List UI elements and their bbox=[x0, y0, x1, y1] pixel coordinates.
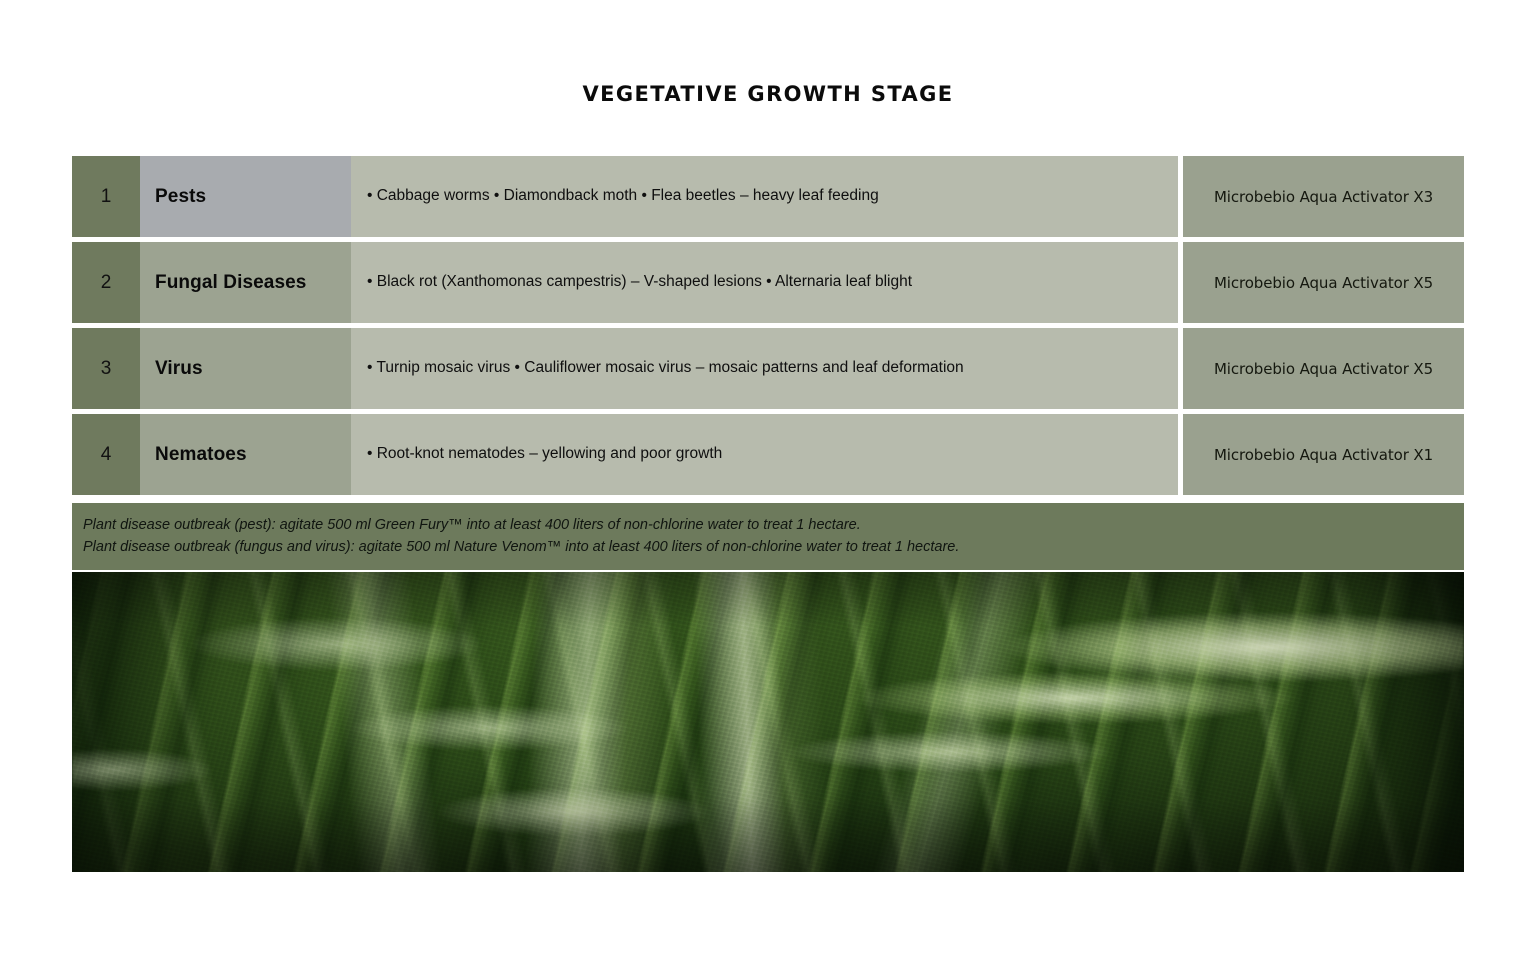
row-product: Microbebio Aqua Activator X5 bbox=[1183, 328, 1464, 409]
pest-management-table: 1 Pests • Cabbage worms • Diamondback mo… bbox=[72, 156, 1464, 495]
row-product: Microbebio Aqua Activator X3 bbox=[1183, 156, 1464, 237]
page-root: VEGETATIVE GROWTH STAGE 1 Pests • Cabbag… bbox=[0, 0, 1536, 977]
row-category: Pests bbox=[140, 156, 351, 237]
row-category: Fungal Diseases bbox=[140, 242, 351, 323]
cabbage-leaves-photo bbox=[72, 572, 1464, 872]
row-number: 4 bbox=[72, 414, 140, 495]
row-description: • Cabbage worms • Diamondback moth • Fle… bbox=[351, 156, 1178, 237]
row-description: • Root-knot nematodes – yellowing and po… bbox=[351, 414, 1178, 495]
page-title: VEGETATIVE GROWTH STAGE bbox=[0, 82, 1536, 106]
table-row: 4 Nematoes • Root-knot nematodes – yello… bbox=[72, 414, 1464, 495]
row-product: Microbebio Aqua Activator X1 bbox=[1183, 414, 1464, 495]
row-category: Virus bbox=[140, 328, 351, 409]
row-number: 2 bbox=[72, 242, 140, 323]
table-row: 3 Virus • Turnip mosaic virus • Cauliflo… bbox=[72, 328, 1464, 409]
row-number: 1 bbox=[72, 156, 140, 237]
table-row: 1 Pests • Cabbage worms • Diamondback mo… bbox=[72, 156, 1464, 237]
row-description: • Black rot (Xanthomonas campestris) – V… bbox=[351, 242, 1178, 323]
row-product: Microbebio Aqua Activator X5 bbox=[1183, 242, 1464, 323]
row-number: 3 bbox=[72, 328, 140, 409]
photo-vignette-layer bbox=[72, 572, 1464, 872]
note-line-pest: Plant disease outbreak (pest): agitate 5… bbox=[83, 514, 1464, 536]
note-line-fungus-virus: Plant disease outbreak (fungus and virus… bbox=[83, 536, 1464, 558]
table-row: 2 Fungal Diseases • Black rot (Xanthomon… bbox=[72, 242, 1464, 323]
row-category: Nematoes bbox=[140, 414, 351, 495]
row-description: • Turnip mosaic virus • Cauliflower mosa… bbox=[351, 328, 1178, 409]
application-note-bar: Plant disease outbreak (pest): agitate 5… bbox=[72, 503, 1464, 570]
